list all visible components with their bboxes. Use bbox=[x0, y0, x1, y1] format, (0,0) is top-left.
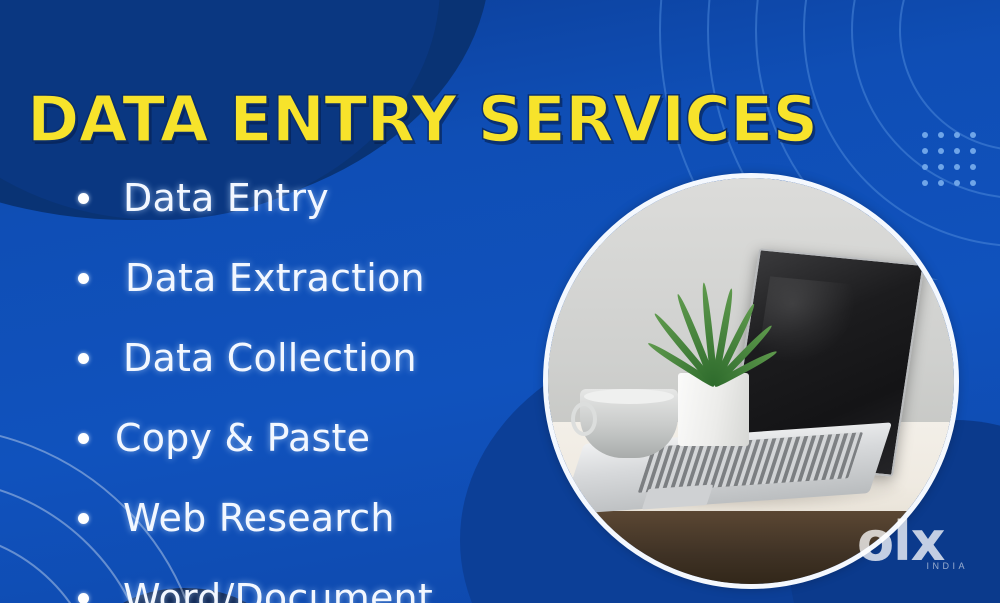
list-item: Copy & Paste bbox=[78, 398, 548, 478]
list-item: Web Research bbox=[78, 478, 548, 558]
bullet-icon bbox=[78, 593, 89, 603]
list-item: Data Extraction bbox=[78, 238, 548, 318]
list-item: Data Entry bbox=[78, 158, 548, 238]
bullet-icon bbox=[78, 193, 89, 204]
list-item: Data Collection bbox=[78, 318, 548, 398]
olx-brand-text: olx bbox=[857, 516, 972, 567]
service-label: Copy & Paste bbox=[115, 416, 370, 460]
service-label: Web Research bbox=[123, 496, 395, 540]
service-list: Data Entry Data Extraction Data Collecti… bbox=[78, 158, 548, 603]
service-label: Word/Document bbox=[123, 576, 433, 603]
service-label: Data Collection bbox=[123, 336, 417, 380]
coffee-cup-icon bbox=[580, 389, 677, 458]
list-item: Word/Document bbox=[78, 558, 548, 603]
bullet-icon bbox=[78, 353, 89, 364]
olx-watermark: olx INDIA bbox=[857, 516, 972, 578]
service-label: Data Entry bbox=[123, 176, 329, 220]
service-label: Data Extraction bbox=[125, 256, 425, 300]
bullet-icon bbox=[78, 433, 89, 444]
promo-banner: DATA ENTRY SERVICES Data Entry Data Extr… bbox=[0, 0, 1000, 603]
bullet-icon bbox=[78, 513, 89, 524]
bullet-icon bbox=[78, 273, 89, 284]
page-title: DATA ENTRY SERVICES bbox=[27, 88, 818, 151]
plant-icon bbox=[658, 271, 772, 385]
